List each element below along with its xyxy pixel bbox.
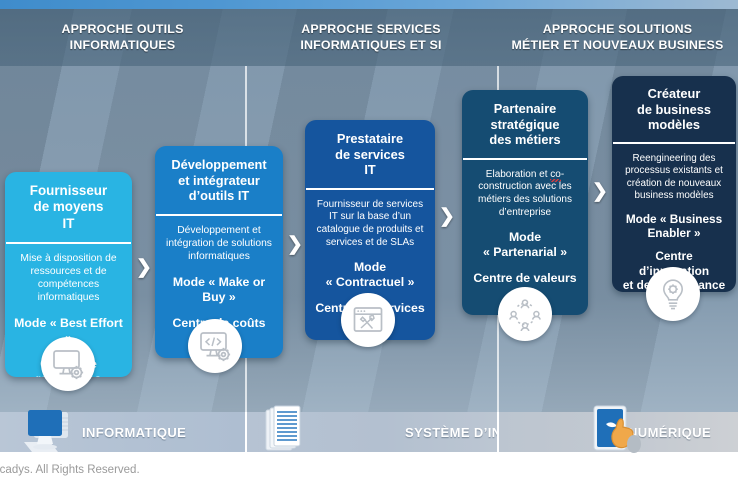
card5-title-line1: Créateur [618,86,730,102]
card2-mode: Mode « Make or Buy » [163,275,275,305]
slide-canvas: APPROCHE OUTILS INFORMATIQUES APPROCHE S… [0,0,738,492]
card2-icon-badge [188,319,242,373]
card4-mode-line1: Mode [470,230,580,245]
card4-desc-misspelled-word: co [550,169,561,180]
header-column-outils: APPROCHE OUTILS INFORMATIQUES [0,9,245,66]
card4-description: Elaboration et co-construction avec les … [470,169,580,219]
header-services-line1: APPROCHE SERVICES [300,22,441,38]
card1-title-line1: Fournisseur [12,183,125,199]
desktop-monitor-icon [18,408,80,458]
card2-title-line1: Développement [162,157,276,173]
card3-mode: Mode « Contractuel » [313,260,427,290]
card4-body: Elaboration et co-construction avec les … [462,160,588,298]
card3-title-line1: Prestataire [312,131,428,147]
card4-title-line2: stratégique [469,117,581,133]
card2-title-line3: d’outils IT [162,188,276,204]
header-services-line2: INFORMATIQUES ET SI [300,38,441,54]
progress-arrow-2: ❯ [287,235,303,254]
card1-description: Mise à disposition de ressources et de c… [13,253,124,305]
code-gear-icon [198,330,232,362]
card5-icon-badge [646,267,700,321]
card2-description: Développement et intégration de solution… [163,225,275,264]
network-people-icon [508,297,542,331]
header-column-solutions: APPROCHE SOLUTIONS MÉTIER ET NOUVEAUX BU… [497,9,738,66]
card1-title-line2: de moyens [12,199,125,215]
card4-icon-badge [498,287,552,341]
window-tools-icon [351,304,385,336]
header-solutions-line1: APPROCHE SOLUTIONS [512,22,724,38]
card5-title-line2: de business [618,102,730,118]
header-outils-line2: INFORMATIQUES [61,38,183,54]
card4-desc-part1: Elaboration et [486,169,551,180]
bottom-divider-2 [497,412,499,452]
tablet-hand-touch-icon [588,404,650,460]
card4-mode-line2: « Partenarial » [470,245,580,260]
lightbulb-gear-icon [657,277,689,311]
card5-description: Reengineering des processus existants et… [620,153,728,203]
card4-title-line1: Partenaire [469,101,581,117]
header-column-services: APPROCHE SERVICES INFORMATIQUES ET SI [245,9,497,66]
card5-title-line3: modèles [618,117,730,133]
card4-center: Centre de valeurs [470,271,580,286]
maturity-card-createur-de-business-modeles[interactable]: Créateur de business modèles Reengineeri… [612,76,736,292]
stacked-documents-icon [262,404,312,460]
card4-title-line3: des métiers [469,132,581,148]
card1-title: Fournisseur de moyens IT [5,172,132,242]
card3-mode-line1: Mode [313,260,427,275]
progress-arrow-4: ❯ [592,182,608,201]
top-accent-strip [0,0,738,9]
card5-title: Créateur de business modèles [612,76,736,142]
progress-arrow-1: ❯ [136,258,152,277]
monitor-gear-icon [51,348,85,380]
copyright-text: Acadys. All Rights Reserved. [0,464,140,476]
bottom-label-informatique: INFORMATIQUE [82,425,186,440]
card3-title-line2: de services [312,147,428,163]
card2-title-line2: et intégrateur [162,173,276,189]
card3-icon-badge [341,293,395,347]
card3-title-line3: IT [312,162,428,178]
card3-mode-line2: « Contractuel » [313,275,427,290]
progress-arrow-3: ❯ [439,207,455,226]
card2-title: Développement et intégrateur d’outils IT [155,146,283,214]
header-outils-line1: APPROCHE OUTILS [61,22,183,38]
card1-title-line3: IT [12,216,125,232]
approach-header-band: APPROCHE OUTILS INFORMATIQUES APPROCHE S… [0,9,738,66]
header-solutions-line2: MÉTIER ET NOUVEAUX BUSINESS [512,38,724,54]
maturity-card-partenaire-strategique-des-metiers[interactable]: Partenaire stratégique des métiers Elabo… [462,90,588,315]
card3-title: Prestataire de services IT [305,120,435,188]
card1-icon-badge [41,337,95,391]
card4-title: Partenaire stratégique des métiers [462,90,588,158]
card5-mode: Mode « Business Enabler » [620,212,728,241]
bottom-divider-1 [245,412,247,452]
card3-description: Fournisseur de services IT sur la base d… [313,199,427,249]
card4-mode: Mode « Partenarial » [470,230,580,260]
